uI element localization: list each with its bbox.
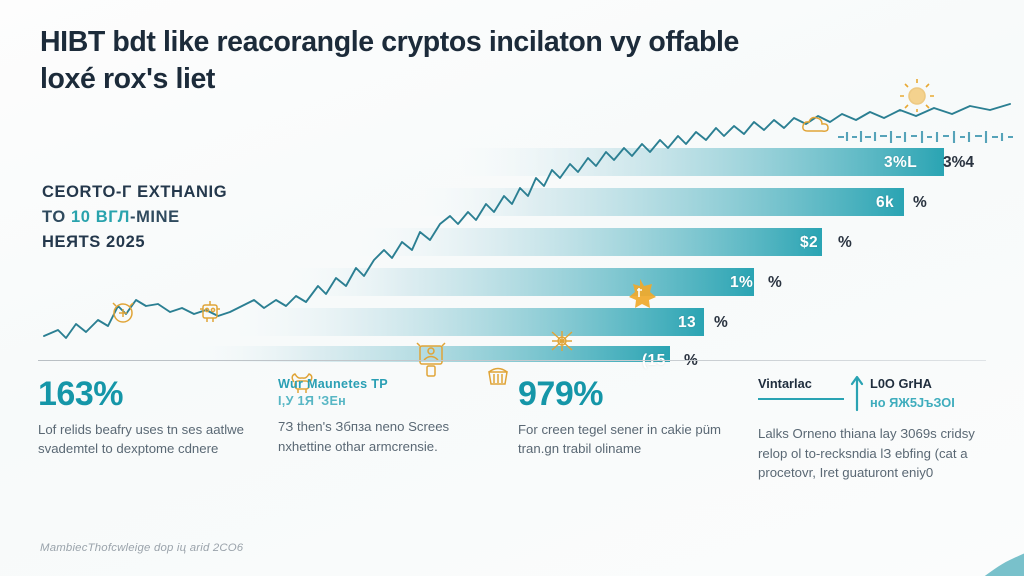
bar-label-4: 1%	[730, 274, 753, 292]
bar-pct-4: %	[768, 274, 782, 292]
stat-4-caption: Lalks Orneno thiana lay З069ѕ cridsy rel…	[758, 424, 982, 483]
chart-legend-label	[834, 124, 1016, 146]
cloud-doodle-icon	[800, 114, 834, 138]
stat-4-label-left: Vintarlac	[758, 376, 844, 400]
robot-doodle-icon	[196, 296, 224, 326]
stat-4-underline	[758, 398, 844, 400]
stat-4-label-right-text: L0O GrHA	[870, 376, 932, 391]
stat-4-label-right: L0O GrHA но ЯЖ5ЈъЗОІ	[870, 376, 955, 411]
infographic-canvas: HIBT bdt like reacorangle cryptos incila…	[0, 0, 1024, 576]
stat-2-caption: 7З then's Збпза neno Screes nxhettine ot…	[278, 417, 502, 456]
page-title: HIBT bdt like reacorangle cryptos incila…	[40, 24, 780, 98]
stat-4-heading-row: Vintarlac L0O GrHA но ЯЖ5ЈъЗОІ	[758, 376, 982, 412]
sun-doodle-icon	[898, 78, 936, 112]
bar-label-6: (15	[642, 352, 666, 370]
bar-pct-6: %	[684, 352, 698, 370]
stat-3-number: 979%	[518, 376, 742, 413]
stat-card-2: Wur Maunetes ТР І,У 1Я 'ЗЕн 7З then's Зб…	[278, 376, 518, 511]
stat-4-label-right-sub: но ЯЖ5ЈъЗОІ	[870, 395, 955, 412]
stat-2-heading: Wur Maunetes ТР І,У 1Я 'ЗЕн	[278, 376, 502, 410]
footer-note: MambiecТhofcwleige dop iц arid 2СО6	[40, 542, 243, 554]
section-divider	[38, 360, 986, 361]
stats-row: 163% Lof relids beafry uses tn ses aatlw…	[38, 376, 998, 511]
stat-card-4: Vintarlac L0O GrHA но ЯЖ5ЈъЗОІ Lalks Orn…	[758, 376, 998, 511]
coin-doodle-icon	[108, 298, 138, 328]
bar-label-3: $2	[800, 234, 818, 252]
web-doodle-icon	[548, 328, 576, 354]
bar-pct-1: 3%4	[943, 154, 974, 172]
bar-pct-3: %	[838, 234, 852, 252]
stat-2-heading-sub: І,У 1Я 'ЗЕн	[278, 393, 502, 410]
stat-4-label-left-text: Vintarlac	[758, 376, 812, 391]
headline-line-2: loxé rox's liet	[40, 61, 780, 98]
bar-label-5: 13	[678, 314, 696, 332]
stat-card-1: 163% Lof relids beafry uses tn ses aatlw…	[38, 376, 278, 511]
bar-label-1: 3%L	[884, 154, 917, 172]
stat-1-number: 163%	[38, 376, 262, 413]
stat-card-3: 979% For creen tegel sener in cakie püm …	[518, 376, 758, 511]
stat-1-caption: Lof relids beafry uses tn ses aatlwe sva…	[38, 420, 262, 459]
bar-label-2: 6k	[876, 194, 894, 212]
chart-area: 3%L 3%4 6k % $2 % 1% % 13 % (15 %	[0, 100, 1024, 362]
stat-2-heading-main: Wur Maunetes ТР	[278, 377, 388, 391]
star-doodle-icon	[622, 276, 658, 310]
up-arrow-icon	[850, 374, 864, 412]
bar-pct-5: %	[714, 314, 728, 332]
stat-3-caption: For creen tegel sener in cakie püm tran.…	[518, 420, 742, 459]
headline-line-1: HIBT bdt like reacorangle cryptos incila…	[40, 26, 739, 58]
bar-pct-2: %	[913, 194, 927, 212]
